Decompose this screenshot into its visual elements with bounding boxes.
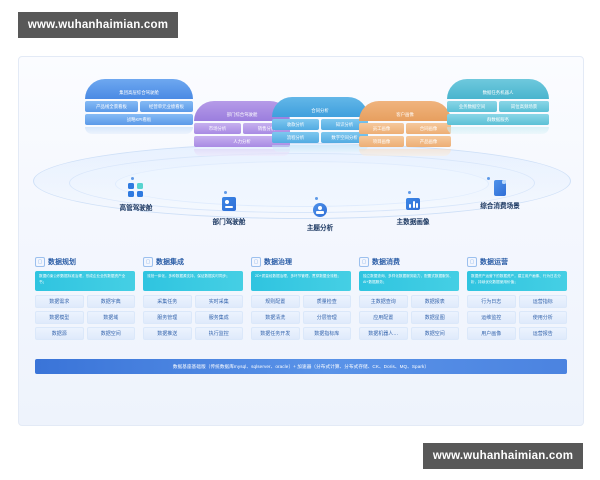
cloud-chip-row: 战略KPI看板 — [85, 114, 193, 125]
cloud-title: 集团高层综合驾驶舱 — [119, 90, 159, 96]
dashboard-icon — [220, 195, 238, 213]
watermark-bottom: www.wuhanhaimian.com — [423, 443, 583, 469]
column-description: 独立数据查询、多样化数据服务能力，配置式数据服务、AI+数据服务； — [359, 271, 459, 291]
cloud-chip[interactable]: 合同画像 — [406, 123, 451, 134]
consumption-icon: ▢ — [359, 257, 369, 267]
tile-item[interactable]: 质量检查 — [303, 295, 352, 308]
platform-foundation-text: 数据基座基础版（传统数据库mysql、sqlserver、oracle）+ 加速… — [173, 364, 429, 370]
cloud-chip[interactable]: 市场分析 — [194, 123, 241, 134]
cloud-group-topic[interactable]: 合同分析 收款分析 知识分析 流程分析 数字空间分析 — [272, 97, 368, 152]
column-data-planning: ▢ 数据规划 数据约束公积数据标准治理，形成企业全的数据资产全书； 数据需求 数… — [35, 257, 135, 343]
cloud-chip[interactable]: 流程分析 — [272, 132, 319, 143]
cloud-chip-row: 流程分析 数字空间分析 — [272, 132, 368, 143]
node-executive-cockpit[interactable]: 高管驾驶舱 — [91, 181, 181, 212]
tile-item[interactable]: 数据需求 — [35, 295, 84, 308]
column-title: 数据规划 — [48, 257, 76, 267]
tile-item[interactable]: 数据推送 — [143, 327, 192, 340]
column-title: 数据治理 — [264, 257, 292, 267]
tile-item[interactable]: 数据空间 — [411, 327, 460, 340]
cloud-title-band: 数据任务机器人 — [447, 79, 549, 99]
node-label: 主数据画像 — [368, 216, 458, 226]
tile-item[interactable]: 服务管理 — [143, 311, 192, 324]
watermark-bottom-text: www.wuhanhaimian.com — [433, 450, 573, 462]
cloud-title-band: 合同分析 — [272, 97, 368, 117]
orbit-dot — [131, 177, 134, 180]
document-icon — [491, 179, 509, 197]
cloud-chip-row: 群数据服务 — [447, 114, 549, 125]
tile-item[interactable]: 运营指标 — [519, 295, 568, 308]
cloud-title: 客户画像 — [396, 112, 414, 118]
cloud-title-band: 集团高层综合驾驶舱 — [85, 79, 193, 99]
cloud-chip[interactable]: 产品画像 — [406, 136, 451, 147]
cloud-group-portrait[interactable]: 客户画像 员工画像 合同画像 项目画像 产品画像 — [359, 101, 451, 156]
node-label: 主题分析 — [275, 222, 365, 232]
orbit-dot — [408, 191, 411, 194]
tile-row: 数据机器人… 数据空间 — [359, 327, 459, 340]
cloud-group-executive[interactable]: 集团高层综合驾驶舱 产品线全景看板 经营单元业绩看板 战略KPI看板 — [85, 79, 193, 134]
tile-row: 数据推送 执行监控 — [143, 327, 243, 340]
tile-item[interactable]: 数据星图 — [411, 311, 460, 324]
cloud-title: 部门综合驾驶舱 — [227, 112, 258, 118]
cloud-chip[interactable]: 岗位高频场景 — [499, 101, 549, 112]
tile-item[interactable]: 使用分析 — [519, 311, 568, 324]
cloud-base — [359, 149, 451, 156]
cloud-chip-row: 收款分析 知识分析 — [272, 119, 368, 130]
tile-item[interactable]: 数据指标库 — [303, 327, 352, 340]
tile-row: 数据模型 数据域 — [35, 311, 135, 324]
tile-row: 数据清洗 分层管理 — [251, 311, 351, 324]
tile-item[interactable]: 数据域 — [87, 311, 136, 324]
column-header: ▢ 数据集成 — [143, 257, 243, 267]
tile-item[interactable]: 应用配置 — [359, 311, 408, 324]
tile-item[interactable]: 运营报告 — [519, 327, 568, 340]
tile-item[interactable]: 分层管理 — [303, 311, 352, 324]
tile-row: 用户画像 运营报告 — [467, 327, 567, 340]
column-description: 数据资产运营下的数据资产，建立用户画像、行为日志分析，持续优化数据使用价值； — [467, 271, 567, 291]
tile-item[interactable]: 数据字典 — [87, 295, 136, 308]
column-data-governance: ▢ 数据治理 2D+质量经数据治理，多环节管理，贯穿数据全流程； 规则配置 质量… — [251, 257, 351, 343]
column-data-integration: ▢ 数据集成 流批一体化，多种数据源支持，保证数据实时同步； 采集任务 实时采集… — [143, 257, 243, 343]
column-description: 2D+质量经数据治理，多环节管理，贯穿数据全流程； — [251, 271, 351, 291]
cloud-chip-row: 产品线全景看板 经营单元业绩看板 — [85, 101, 193, 112]
cloud-base — [85, 127, 193, 134]
column-header: ▢ 数据治理 — [251, 257, 351, 267]
node-label: 高管驾驶舱 — [91, 202, 181, 212]
column-header: ▢ 数据运营 — [467, 257, 567, 267]
tile-item[interactable]: 用户画像 — [467, 327, 516, 340]
tile-row: 规则配置 质量检查 — [251, 295, 351, 308]
column-description: 流批一体化，多种数据源支持，保证数据实时同步； — [143, 271, 243, 291]
column-header: ▢ 数据规划 — [35, 257, 135, 267]
cloud-chip[interactable]: 群数据服务 — [447, 114, 549, 125]
tile-item[interactable]: 数据空间 — [87, 327, 136, 340]
watermark-top-text: www.wuhanhaimian.com — [28, 19, 168, 31]
cloud-chip[interactable]: 收款分析 — [272, 119, 319, 130]
tile-item[interactable]: 行为日志 — [467, 295, 516, 308]
tile-item[interactable]: 数据任务开发 — [251, 327, 300, 340]
tile-item[interactable]: 服务集成 — [195, 311, 244, 324]
grid-squares-icon — [127, 181, 145, 199]
tile-grid: 数据需求 数据字典 数据模型 数据域 数据源 数据空间 — [35, 295, 135, 340]
tile-item[interactable]: 数据模型 — [35, 311, 84, 324]
column-data-consumption: ▢ 数据消费 独立数据查询、多样化数据服务能力，配置式数据服务、AI+数据服务；… — [359, 257, 459, 343]
tile-item[interactable]: 数据清洗 — [251, 311, 300, 324]
tile-row: 服务管理 服务集成 — [143, 311, 243, 324]
orbit-dot — [315, 197, 318, 200]
node-label: 部门驾驶舱 — [184, 216, 274, 226]
cloud-chip[interactable]: 业务数据空间 — [447, 101, 497, 112]
cloud-chip[interactable]: 战略KPI看板 — [85, 114, 193, 125]
column-header: ▢ 数据消费 — [359, 257, 459, 267]
governance-icon: ▢ — [251, 257, 261, 267]
cloud-chip-row: 员工画像 合同画像 — [359, 123, 451, 134]
tile-row: 行为日志 运营指标 — [467, 295, 567, 308]
cloud-chip[interactable]: 经营单元业绩看板 — [140, 101, 193, 112]
cloud-chip[interactable]: 员工画像 — [359, 123, 404, 134]
diagram-card: 集团高层综合驾驶舱 产品线全景看板 经营单元业绩看板 战略KPI看板 部门综合驾… — [18, 56, 584, 426]
tile-row: 数据需求 数据字典 — [35, 295, 135, 308]
tile-item[interactable]: 实时采集 — [195, 295, 244, 308]
cloud-chip-row: 业务数据空间 岗位高频场景 — [447, 101, 549, 112]
tile-item[interactable]: 数据机器人… — [359, 327, 408, 340]
tile-item[interactable]: 采集任务 — [143, 295, 192, 308]
column-title: 数据集成 — [156, 257, 184, 267]
cloud-base — [272, 145, 368, 152]
tile-row: 数据任务开发 数据指标库 — [251, 327, 351, 340]
cloud-title: 合同分析 — [311, 108, 329, 114]
cloud-chip-row: 项目画像 产品画像 — [359, 136, 451, 147]
tile-item[interactable]: 运维监控 — [467, 311, 516, 324]
tile-row: 采集任务 实时采集 — [143, 295, 243, 308]
tile-row: 数据源 数据空间 — [35, 327, 135, 340]
column-title: 数据消费 — [372, 257, 400, 267]
node-department-cockpit[interactable]: 部门驾驶舱 — [184, 195, 274, 226]
tile-row: 主数据查询 数据报表 — [359, 295, 459, 308]
cloud-base — [447, 127, 549, 134]
capability-panel: ▢ 数据规划 数据约束公积数据标准治理，形成企业全的数据资产全书； 数据需求 数… — [35, 257, 567, 353]
tile-row: 应用配置 数据星图 — [359, 311, 459, 324]
tile-grid: 行为日志 运营指标 运维监控 使用分析 用户画像 运营报告 — [467, 295, 567, 340]
chart-icon — [404, 195, 422, 213]
cloud-title-band: 客户画像 — [359, 101, 451, 121]
cloud-group-consumption[interactable]: 数据任务机器人 业务数据空间 岗位高频场景 群数据服务 — [447, 79, 549, 134]
operation-icon: ▢ — [467, 257, 477, 267]
watermark-top: www.wuhanhaimian.com — [18, 12, 178, 38]
orbit-dot — [224, 191, 227, 194]
cloud-zone: 集团高层综合驾驶舱 产品线全景看板 经营单元业绩看板 战略KPI看板 部门综合驾… — [19, 57, 583, 237]
analysis-icon — [311, 201, 329, 219]
column-title: 数据运营 — [480, 257, 508, 267]
node-label: 综合消费场景 — [455, 200, 545, 210]
tile-row: 运维监控 使用分析 — [467, 311, 567, 324]
integration-icon: ▢ — [143, 257, 153, 267]
tile-item[interactable]: 数据源 — [35, 327, 84, 340]
planning-icon: ▢ — [35, 257, 45, 267]
cloud-chip[interactable]: 产品线全景看板 — [85, 101, 138, 112]
cloud-chip[interactable]: 项目画像 — [359, 136, 404, 147]
tile-item[interactable]: 执行监控 — [195, 327, 244, 340]
tile-item[interactable]: 主数据查询 — [359, 295, 408, 308]
node-comprehensive-consumption[interactable]: 综合消费场景 — [455, 179, 545, 210]
tile-grid: 规则配置 质量检查 数据清洗 分层管理 数据任务开发 数据指标库 — [251, 295, 351, 340]
platform-foundation-bar: 数据基座基础版（传统数据库mysql、sqlserver、oracle）+ 加速… — [35, 359, 567, 374]
column-data-operation: ▢ 数据运营 数据资产运营下的数据资产，建立用户画像、行为日志分析，持续优化数据… — [467, 257, 567, 343]
node-topic-analysis[interactable]: 主题分析 — [275, 201, 365, 232]
tile-item[interactable]: 规则配置 — [251, 295, 300, 308]
column-description: 数据约束公积数据标准治理，形成企业全的数据资产全书； — [35, 271, 135, 291]
cloud-title: 数据任务机器人 — [483, 90, 514, 96]
tile-grid: 主数据查询 数据报表 应用配置 数据星图 数据机器人… 数据空间 — [359, 295, 459, 340]
tile-grid: 采集任务 实时采集 服务管理 服务集成 数据推送 执行监控 — [143, 295, 243, 340]
tile-item[interactable]: 数据报表 — [411, 295, 460, 308]
node-master-data-portrait[interactable]: 主数据画像 — [368, 195, 458, 226]
